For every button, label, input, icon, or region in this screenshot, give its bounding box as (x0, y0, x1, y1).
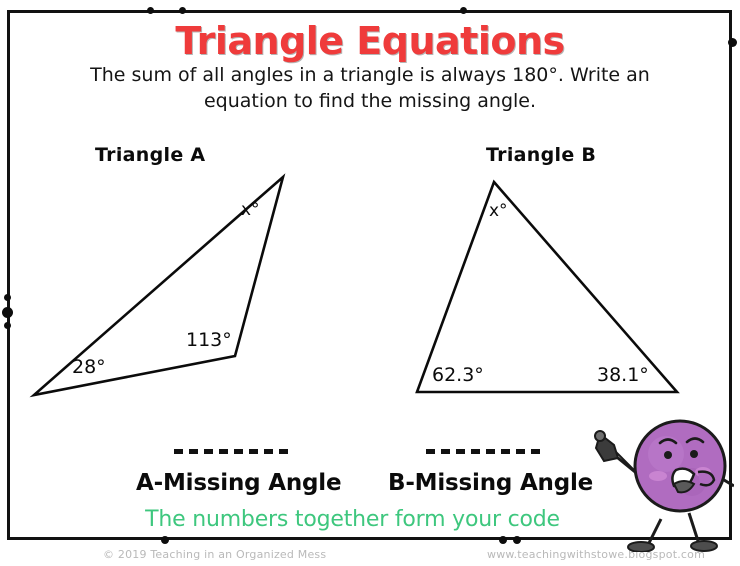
border-dot (499, 536, 507, 544)
instructions-text: The sum of all angles in a triangle is a… (60, 62, 680, 114)
triangle-b-answer-blank[interactable] (426, 449, 544, 454)
triangle-b-angle-unknown: x° (489, 201, 508, 221)
triangle-b-heading: Triangle B (486, 144, 596, 166)
footer-copyright: © 2019 Teaching in an Organized Mess (103, 548, 326, 561)
triangle-a-angle-unknown: x° (241, 200, 260, 220)
triangle-b-angle-bottom-right: 38.1° (597, 364, 649, 386)
triangle-a-heading: Triangle A (95, 144, 205, 166)
triangle-a-angle-bottom-left: 28° (72, 356, 106, 378)
worksheet-page: Triangle Equations The sum of all angles… (0, 0, 740, 566)
purple-blob-character-icon (588, 414, 734, 552)
border-dot (147, 7, 154, 14)
border-dot (161, 536, 169, 544)
border-dot (4, 294, 11, 301)
border-dot (460, 7, 467, 14)
border-dot (2, 307, 13, 318)
triangle-b-angle-bottom-left: 62.3° (432, 364, 484, 386)
page-title: Triangle Equations (0, 19, 740, 63)
triangle-a-answer-blank[interactable] (174, 449, 292, 454)
triangle-a-answer-label: A-Missing Angle (136, 470, 341, 496)
border-dot (513, 536, 521, 544)
border-dot (179, 7, 186, 14)
triangle-b-answer-label: B-Missing Angle (388, 470, 593, 496)
border-dot (4, 322, 11, 329)
triangle-a-angle-bottom-right: 113° (186, 329, 232, 351)
